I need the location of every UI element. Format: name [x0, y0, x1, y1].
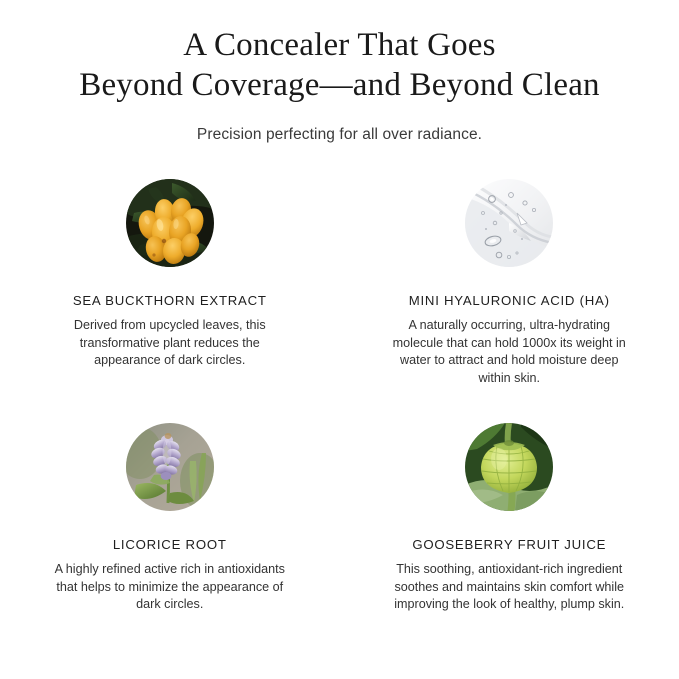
ingredient-name: GOOSEBERRY FRUIT JUICE — [412, 537, 606, 552]
ingredient-card-licorice-root: LICORICE ROOT A highly refined active ri… — [0, 423, 340, 614]
ingredient-description: A naturally occurring, ultra-hydrating m… — [383, 317, 635, 387]
hyaluronic-acid-gel-photo — [465, 179, 553, 267]
page-title-line-2: Beyond Coverage—and Beyond Clean — [0, 65, 679, 105]
ingredient-infographic: A Concealer That Goes Beyond Coverage—an… — [0, 0, 679, 679]
ingredient-card-sea-buckthorn: SEA BUCKTHORN EXTRACT Derived from upcyc… — [0, 179, 340, 387]
header: A Concealer That Goes Beyond Coverage—an… — [0, 0, 679, 145]
ingredient-name: LICORICE ROOT — [113, 537, 227, 552]
ingredient-card-gooseberry: GOOSEBERRY FRUIT JUICE This soothing, an… — [340, 423, 679, 614]
ingredient-description: Derived from upcycled leaves, this trans… — [46, 317, 294, 370]
ingredient-name: SEA BUCKTHORN EXTRACT — [73, 293, 267, 308]
ingredient-name: MINI HYALURONIC ACID (HA) — [409, 293, 610, 308]
sea-buckthorn-berries-photo — [126, 179, 214, 267]
page-title: A Concealer That Goes Beyond Coverage—an… — [0, 25, 679, 105]
page-subtitle: Precision perfecting for all over radian… — [0, 125, 679, 145]
ingredient-card-hyaluronic-acid: MINI HYALURONIC ACID (HA) A naturally oc… — [340, 179, 679, 387]
licorice-root-flower-photo — [126, 423, 214, 511]
ingredient-grid: SEA BUCKTHORN EXTRACT Derived from upcyc… — [0, 179, 679, 614]
gooseberry-fruit-photo — [465, 423, 553, 511]
ingredient-description: This soothing, antioxidant-rich ingredie… — [383, 561, 635, 614]
ingredient-description: A highly refined active rich in antioxid… — [46, 561, 294, 614]
page-title-line-1: A Concealer That Goes — [0, 25, 679, 65]
